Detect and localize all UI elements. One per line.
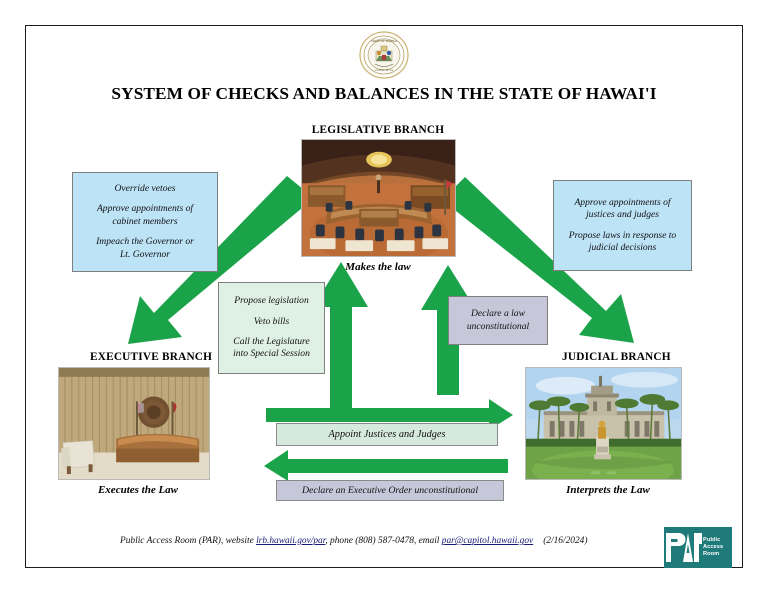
callout-line: Lt. Governor bbox=[120, 249, 170, 261]
legislative-chamber-photo bbox=[301, 139, 456, 257]
callout-judicial-over-legislative: Declare a law unconstitutional bbox=[448, 296, 548, 345]
callout-line: Approve appointments of bbox=[97, 203, 193, 215]
par-email-link[interactable]: par@capitol.hawaii.gov bbox=[442, 536, 533, 546]
judicial-branch-caption: Interprets the Law bbox=[525, 484, 691, 496]
svg-text:STATE OF HAWAII: STATE OF HAWAII bbox=[371, 39, 397, 43]
callout-line: Declare an Executive Order unconstitutio… bbox=[302, 485, 478, 496]
callout-line: Propose laws in response to bbox=[569, 230, 676, 242]
callout-line: Propose legislation bbox=[234, 295, 309, 307]
svg-text:UA MAU KE EA: UA MAU KE EA bbox=[375, 69, 394, 72]
callout-judicial-over-executive: Declare an Executive Order unconstitutio… bbox=[276, 480, 504, 501]
par-logo-line2: Access bbox=[703, 544, 723, 551]
footer-middle: , phone (808) 587-0478, email bbox=[325, 536, 441, 546]
hawaii-state-seal-icon: STATE OF HAWAII UA MAU KE EA bbox=[351, 30, 417, 80]
callout-line: cabinet members bbox=[112, 216, 177, 228]
callout-line: Appoint Justices and Judges bbox=[329, 429, 446, 440]
par-monogram-icon bbox=[664, 527, 702, 568]
executive-branch-caption: Executes the Law bbox=[58, 484, 218, 496]
callout-line: Veto bills bbox=[254, 316, 289, 328]
callout-executive-over-judicial: Appoint Justices and Judges bbox=[276, 423, 498, 446]
judicial-branch-title: JUDICIAL BRANCH bbox=[528, 351, 708, 363]
page-title: SYSTEM OF CHECKS AND BALANCES IN THE STA… bbox=[40, 84, 728, 104]
callout-line: unconstitutional bbox=[467, 321, 529, 333]
callout-line: into Special Session bbox=[233, 348, 310, 360]
callout-legislative-over-executive: Override vetoes Approve appointments of … bbox=[72, 172, 218, 272]
callout-line: Declare a law bbox=[471, 308, 525, 320]
callout-line: justices and judges bbox=[586, 209, 659, 221]
footer-contact-line: Public Access Room (PAR), website lrb.ha… bbox=[120, 536, 660, 546]
callout-line: judicial decisions bbox=[589, 242, 656, 254]
infographic-page: STATE OF HAWAII UA MAU KE EA SYSTEM OF C… bbox=[0, 0, 768, 593]
callout-line: Impeach the Governor or bbox=[96, 236, 194, 248]
governor-ceremonial-room-photo bbox=[58, 367, 210, 480]
footer-prefix: Public Access Room (PAR), website bbox=[120, 536, 256, 546]
executive-branch-title: EXECUTIVE BRANCH bbox=[58, 351, 238, 363]
callout-line: Override vetoes bbox=[114, 183, 175, 195]
par-website-link[interactable]: lrb.hawaii.gov/par bbox=[256, 536, 325, 546]
legislative-branch-caption: Makes the law bbox=[295, 261, 461, 273]
legislative-branch-title: LEGISLATIVE BRANCH bbox=[285, 124, 471, 136]
callout-line: Approve appointments of bbox=[574, 197, 670, 209]
callout-line: Call the Legislature bbox=[233, 336, 309, 348]
par-logo-line1: Public bbox=[703, 537, 723, 544]
par-logo-line3: Room bbox=[703, 551, 723, 558]
aliiolani-hale-photo bbox=[525, 367, 682, 480]
callout-executive-over-legislative: Propose legislation Veto bills Call the … bbox=[218, 282, 325, 374]
footer-date: (2/16/2024) bbox=[543, 536, 587, 546]
par-logo: Public Access Room bbox=[664, 527, 732, 568]
callout-legislative-over-judicial: Approve appointments of justices and jud… bbox=[553, 180, 692, 271]
par-logo-words: Public Access Room bbox=[702, 537, 723, 558]
